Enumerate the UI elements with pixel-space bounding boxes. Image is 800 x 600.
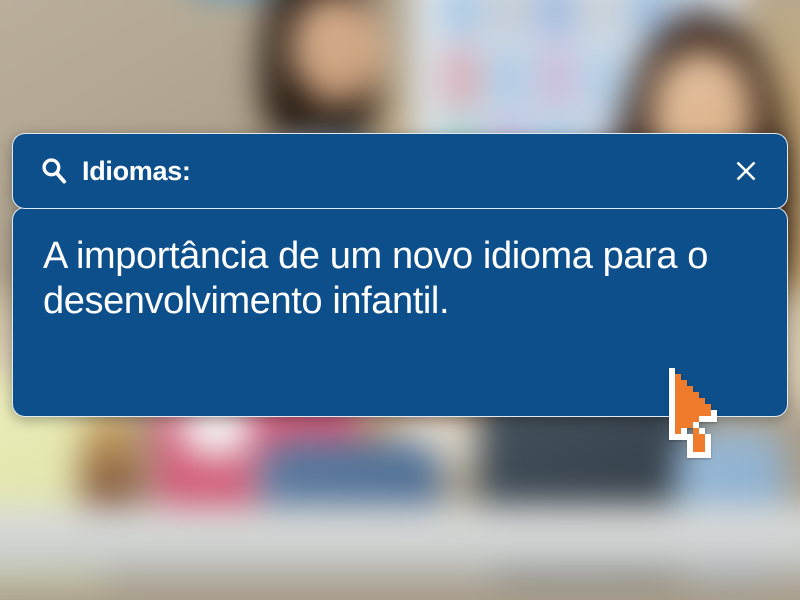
chart-swatch [440, 0, 481, 40]
close-button[interactable] [729, 154, 763, 188]
chart-swatch [536, 0, 577, 40]
modal-header-left: Idiomas: [39, 156, 729, 186]
close-icon [733, 158, 759, 184]
chart-swatch [488, 0, 529, 40]
search-modal: A importância de um novo idioma para o d… [12, 133, 788, 417]
search-icon [39, 156, 69, 186]
modal-body: A importância de um novo idioma para o d… [12, 207, 788, 417]
modal-header: Idiomas: [12, 133, 788, 209]
search-result-text: A importância de um novo idioma para o d… [43, 234, 733, 324]
chart-swatch [488, 47, 529, 109]
chart-swatch [583, 47, 624, 109]
chart-swatch [440, 47, 481, 109]
chart-swatch [536, 47, 577, 109]
modal-title: Idiomas: [82, 158, 191, 185]
chart-swatch [583, 0, 624, 40]
floor-mat [0, 505, 800, 575]
